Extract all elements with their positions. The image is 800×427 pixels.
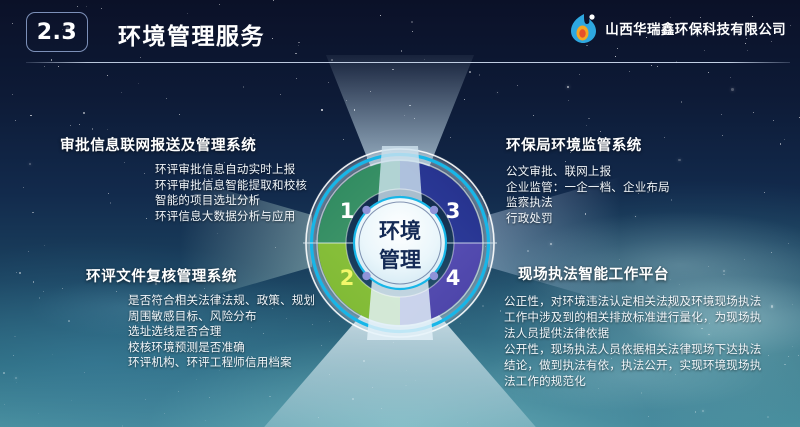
block-item-list: 公文审批、联网上报企业监管：一企一档、企业布局监察执法行政处罚: [506, 164, 670, 226]
slide-canvas: 2.3 环境管理服务 山西华瑞鑫环保科技有限公司: [0, 0, 800, 427]
block-top-left: 审批信息联网报送及管理系统 环评审批信息自动实时上报环评审批信息智能提取和校核智…: [60, 134, 307, 224]
block-title: 环保局环境监管系统: [506, 134, 670, 155]
block-bottom-left: 环评文件复核管理系统 是否符合相关法律法规、政策、规划周围敏感目标、风险分布选址…: [86, 265, 315, 371]
company-name-label: 山西华瑞鑫环保科技有限公司: [605, 18, 786, 38]
list-item: 行政处罚: [506, 211, 670, 227]
block-top-right: 环保局环境监管系统 公文审批、联网上报企业监管：一企一档、企业布局监察执法行政处…: [506, 134, 670, 226]
environment-management-wheel: 1 2 3 4 环境 管理: [303, 146, 497, 340]
list-item: 智能的项目选址分析: [155, 193, 307, 209]
node-dot-3: [430, 206, 438, 214]
node-dot-1: [362, 206, 370, 214]
block-title: 审批信息联网报送及管理系统: [60, 134, 307, 155]
wheel-center-line-1: 环境: [379, 219, 421, 243]
header-divider: [26, 62, 790, 63]
slide-header: 2.3 环境管理服务 山西华瑞鑫环保科技有限公司: [0, 0, 800, 64]
list-item: 周围敏感目标、风险分布: [128, 309, 315, 325]
block-title: 现场执法智能工作平台: [518, 263, 770, 284]
node-dot-2: [362, 272, 370, 280]
wheel-number-1: 1: [340, 199, 355, 223]
list-item: 企业监管：一企一档、企业布局: [506, 180, 670, 196]
list-item: 公正性，对环境违法认定相关法规及环境现场执法工作中涉及到的相关排放标准进行量化，…: [504, 293, 770, 341]
list-item: 环评信息大数据分析与应用: [155, 209, 307, 225]
section-number-badge: 2.3: [26, 12, 88, 52]
list-item: 校核环境预测是否准确: [128, 340, 315, 356]
page-title: 环境管理服务: [118, 17, 265, 51]
wheel-number-3: 3: [446, 199, 461, 223]
list-item: 监察执法: [506, 195, 670, 211]
company-logo: 山西华瑞鑫环保科技有限公司: [568, 12, 786, 44]
list-item: 选址选线是否合理: [128, 324, 315, 340]
wheel-number-4: 4: [446, 266, 461, 290]
block-item-list: 是否符合相关法律法规、政策、规划周围敏感目标、风险分布选址选线是否合理校核环境预…: [86, 293, 315, 371]
list-item: 环评审批信息自动实时上报: [155, 162, 307, 178]
block-item-list: 公正性，对环境违法认定相关法规及环境现场执法工作中涉及到的相关排放标准进行量化，…: [504, 293, 770, 389]
wheel-center-line-2: 管理: [379, 248, 421, 272]
list-item: 公文审批、联网上报: [506, 164, 670, 180]
block-title: 环评文件复核管理系统: [86, 265, 315, 286]
list-item: 公开性，现场执法人员依据相关法律现场下达执法结论，做到执法有依，执法公开，实现环…: [504, 341, 770, 389]
block-bottom-right: 现场执法智能工作平台 公正性，对环境违法认定相关法规及环境现场执法工作中涉及到的…: [518, 263, 770, 389]
list-item: 环评机构、环评工程师信用档案: [128, 355, 315, 371]
node-dot-4: [430, 272, 438, 280]
wheel-number-2: 2: [340, 266, 355, 290]
block-item-list: 环评审批信息自动实时上报环评审批信息智能提取和校核智能的项目选址分析环评信息大数…: [60, 162, 307, 224]
list-item: 环评审批信息智能提取和校核: [155, 178, 307, 194]
company-flame-logo-icon: [568, 12, 598, 44]
list-item: 是否符合相关法律法规、政策、规划: [128, 293, 315, 309]
